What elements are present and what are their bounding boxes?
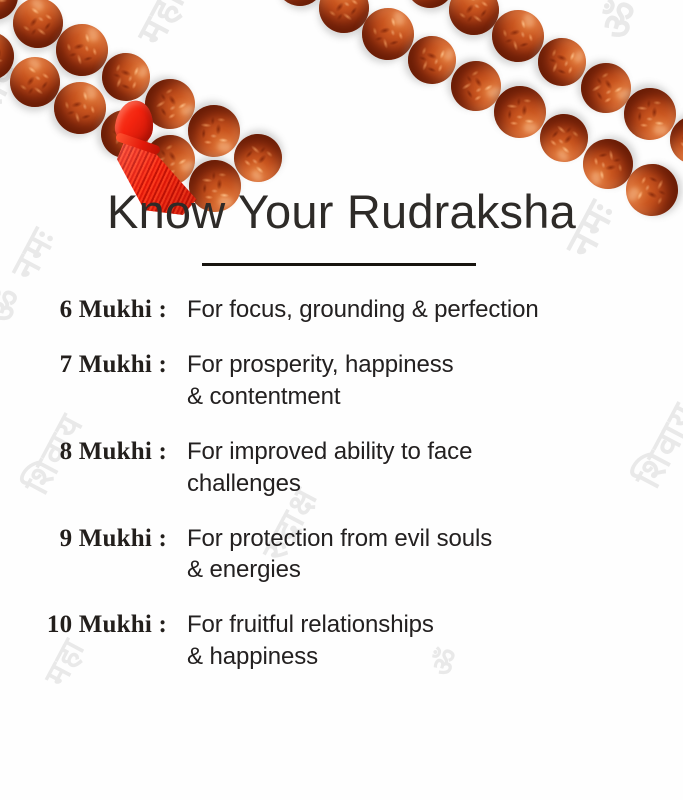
mukhi-description: For focus, grounding & perfection [187,294,539,326]
title-divider [202,263,476,266]
desc-line: For focus, grounding & perfection [187,296,539,323]
mukhi-list: 6 Mukhi : For focus, grounding & perfect… [0,294,683,696]
mukhi-label: 9 Mukhi : [0,523,167,554]
desc-line: For protection from evil souls [187,525,492,552]
mukhi-description: For improved ability to face challenges [187,436,472,500]
mukhi-label: 10 Mukhi : [0,609,167,640]
list-item: 7 Mukhi : For prosperity, happiness & co… [0,349,683,413]
mukhi-description: For fruitful relationships & happiness [187,609,434,673]
mukhi-label: 7 Mukhi : [0,349,167,380]
mukhi-label: 6 Mukhi : [0,294,167,325]
desc-line: For prosperity, happiness [187,351,454,378]
desc-line: & happiness [187,641,434,673]
list-item: 8 Mukhi : For improved ability to face c… [0,436,683,500]
desc-line: For improved ability to face [187,438,472,465]
desc-line: For fruitful relationships [187,611,434,638]
rudraksha-bead [406,0,454,8]
mukhi-description: For protection from evil souls & energie… [187,523,492,587]
list-item: 10 Mukhi : For fruitful relationships & … [0,609,683,673]
list-item: 9 Mukhi : For protection from evil souls… [0,523,683,587]
desc-line: & contentment [187,381,454,413]
desc-line: & energies [187,554,492,586]
mukhi-description: For prosperity, happiness & contentment [187,349,454,413]
rudraksha-infographic: शिव ॐ नमः शिवाय महादेव रुद्राक्ष ॐ नमः श… [0,0,683,800]
page-title: Know Your Rudraksha [0,188,683,235]
list-item: 6 Mukhi : For focus, grounding & perfect… [0,294,683,326]
desc-line: challenges [187,468,472,500]
mukhi-label: 8 Mukhi : [0,436,167,467]
